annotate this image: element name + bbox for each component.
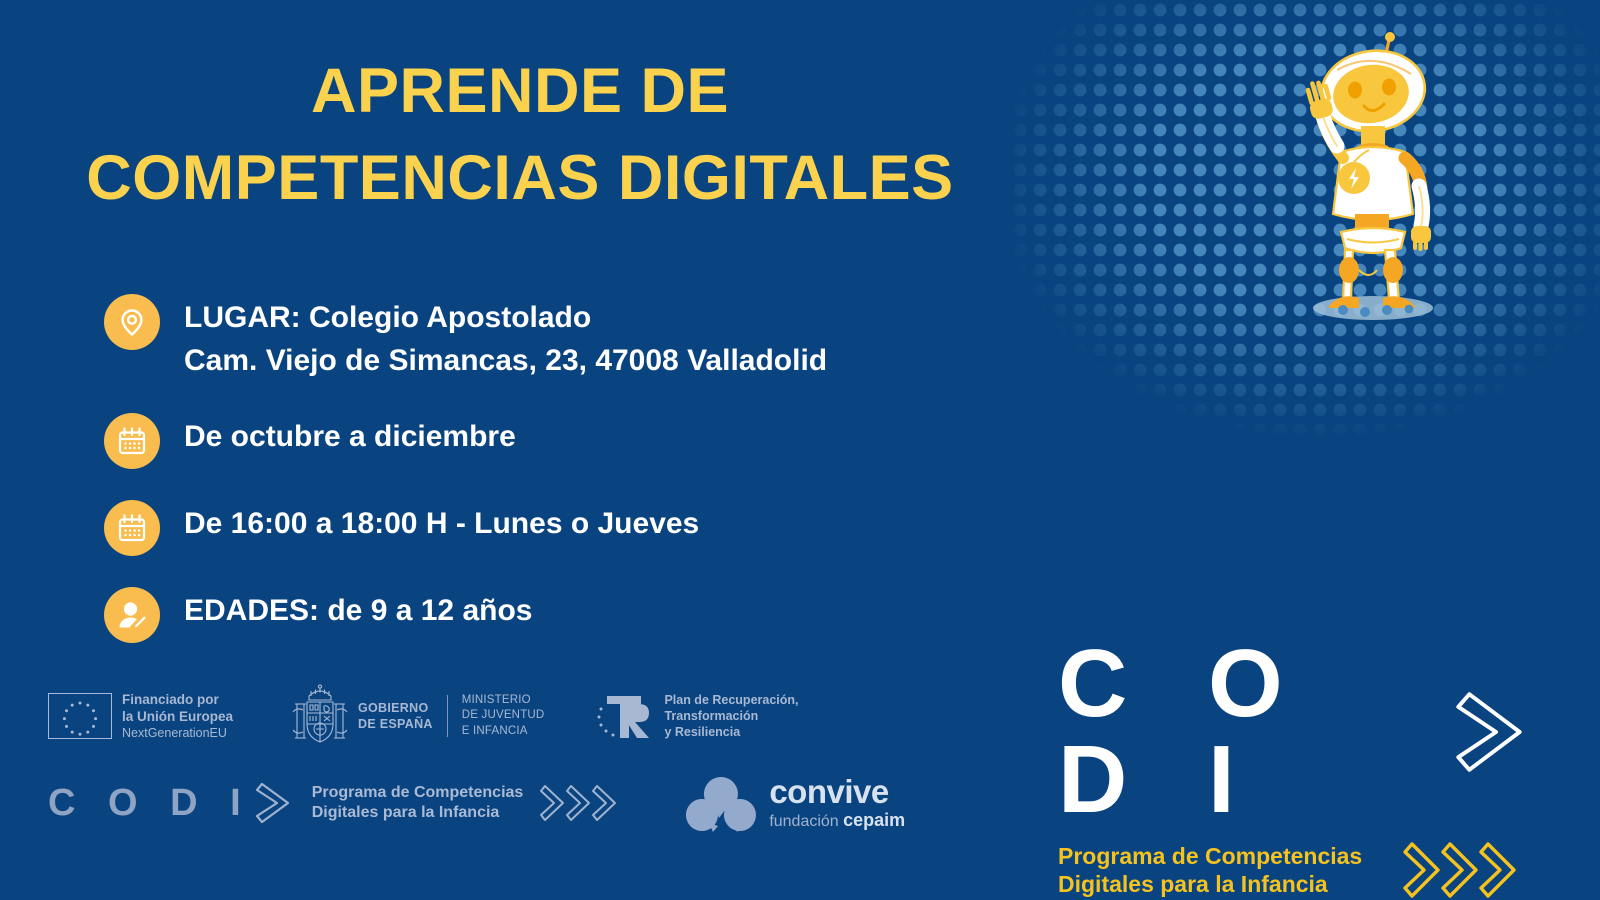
info-text-location: LUGAR: Colegio Apostolado Cam. Viejo de … — [184, 292, 827, 382]
location-line-2: Cam. Viejo de Simancas, 23, 47008 Vallad… — [184, 339, 827, 382]
info-text-schedule: De 16:00 a 18:00 H - Lunes o Jueves — [184, 498, 699, 545]
title-line-1: APRENDE DE — [0, 48, 1040, 135]
pr-monogram-icon — [594, 686, 656, 746]
gobierno-de-espana-logo: GOBIERNO DE ESPAÑA MINISTERIO DE JUVENTU… — [291, 682, 544, 750]
info-row-months: De octubre a diciembre — [104, 411, 1024, 469]
footer-logo-bank: Financiado por la Unión Europea NextGene… — [48, 676, 948, 836]
calendar-icon — [104, 413, 160, 469]
codi-large-tag-line-2: Digitales para la Infancia — [1058, 870, 1362, 898]
waving-robot-mascot — [1265, 18, 1480, 323]
codi-large-tagline: Programa de Competencias Digitales para … — [1058, 842, 1362, 898]
event-info-list: LUGAR: Colegio Apostolado Cam. Viejo de … — [104, 292, 1024, 643]
info-row-schedule: De 16:00 a 18:00 H - Lunes o Jueves — [104, 498, 1024, 556]
eu-line-3: NextGenerationEU — [122, 725, 233, 741]
codi-logo-large: C O D I Programa de Competencias Digital… — [1058, 636, 1528, 900]
info-text-months: De octubre a diciembre — [184, 411, 516, 458]
plan-text: Plan de Recuperación, Transformación y R… — [664, 692, 798, 741]
convive-main-text: convive — [769, 775, 905, 808]
convive-sub-text: fundación cepaim — [769, 810, 905, 832]
codi-large-footer: Programa de Competencias Digitales para … — [1058, 828, 1528, 900]
ministerio-line-2: DE JUVENTUD — [462, 708, 545, 724]
convive-sub-brand: cepaim — [843, 810, 905, 830]
plan-recuperacion-logo: Plan de Recuperación, Transformación y R… — [594, 686, 798, 746]
triple-chevron-icon — [1402, 838, 1528, 900]
info-text-ages: EDADES: de 9 a 12 años — [184, 585, 532, 632]
user-edit-icon — [104, 587, 160, 643]
codi-small-tag-line-1: Programa de Competencias — [312, 783, 524, 803]
gobierno-text: GOBIERNO DE ESPAÑA — [358, 700, 433, 733]
codi-small-tagline: Programa de Competencias Digitales para … — [312, 783, 524, 824]
codi-small-tag-line-2: Digitales para la Infancia — [312, 803, 524, 823]
chevron-outline-icon — [1452, 676, 1528, 788]
codi-logo-small: C O D I Programa de Competencias Digital… — [48, 779, 625, 827]
gobierno-line-1: GOBIERNO — [358, 700, 433, 716]
eu-stars-icon — [48, 693, 112, 739]
location-pin-icon — [104, 294, 160, 350]
info-row-location: LUGAR: Colegio Apostolado Cam. Viejo de … — [104, 292, 1024, 382]
calendar-icon — [104, 500, 160, 556]
logo-divider — [447, 695, 448, 737]
codi-large-tag-line-1: Programa de Competencias — [1058, 842, 1362, 870]
eu-line-1: Financiado por — [122, 691, 233, 708]
eu-funding-text: Financiado por la Unión Europea NextGene… — [122, 691, 233, 742]
footer-logo-row-partners: C O D I Programa de Competencias Digital… — [48, 770, 948, 836]
info-row-ages: EDADES: de 9 a 12 años — [104, 585, 1024, 643]
page-title: APRENDE DE COMPETENCIAS DIGITALES — [0, 48, 1040, 222]
plan-line-3: y Resiliencia — [664, 724, 798, 740]
codi-small-letters: C O D I — [48, 784, 252, 822]
plan-line-1: Plan de Recuperación, — [664, 692, 798, 708]
ministerio-line-3: E INFANCIA — [462, 724, 545, 740]
eu-line-2: la Unión Europea — [122, 708, 233, 725]
codi-large-wordmark: C O D I — [1058, 636, 1528, 828]
eu-funding-logo: Financiado por la Unión Europea NextGene… — [48, 691, 233, 742]
footer-logo-row-institutional: Financiado por la Unión Europea NextGene… — [48, 676, 948, 756]
plan-line-2: Transformación — [664, 708, 798, 724]
codi-large-letters: C O D I — [1058, 636, 1458, 828]
poster-canvas: APRENDE DE COMPETENCIAS DIGITALES LUGAR:… — [0, 0, 1600, 900]
spain-coat-of-arms-icon — [291, 682, 349, 750]
triple-chevron-icon — [539, 780, 625, 826]
title-line-2: COMPETENCIAS DIGITALES — [0, 135, 1040, 222]
gobierno-line-2: DE ESPAÑA — [358, 716, 433, 732]
convive-text: convive fundación cepaim — [769, 775, 905, 832]
location-line-1: LUGAR: Colegio Apostolado — [184, 301, 591, 334]
three-circles-icon — [685, 773, 757, 833]
chevron-outline-icon — [254, 779, 296, 827]
ministerio-line-1: MINISTERIO — [462, 693, 545, 709]
convive-cepaim-logo: convive fundación cepaim — [685, 773, 905, 833]
ministerio-text: MINISTERIO DE JUVENTUD E INFANCIA — [462, 693, 545, 740]
convive-sub-prefix: fundación — [769, 813, 843, 830]
